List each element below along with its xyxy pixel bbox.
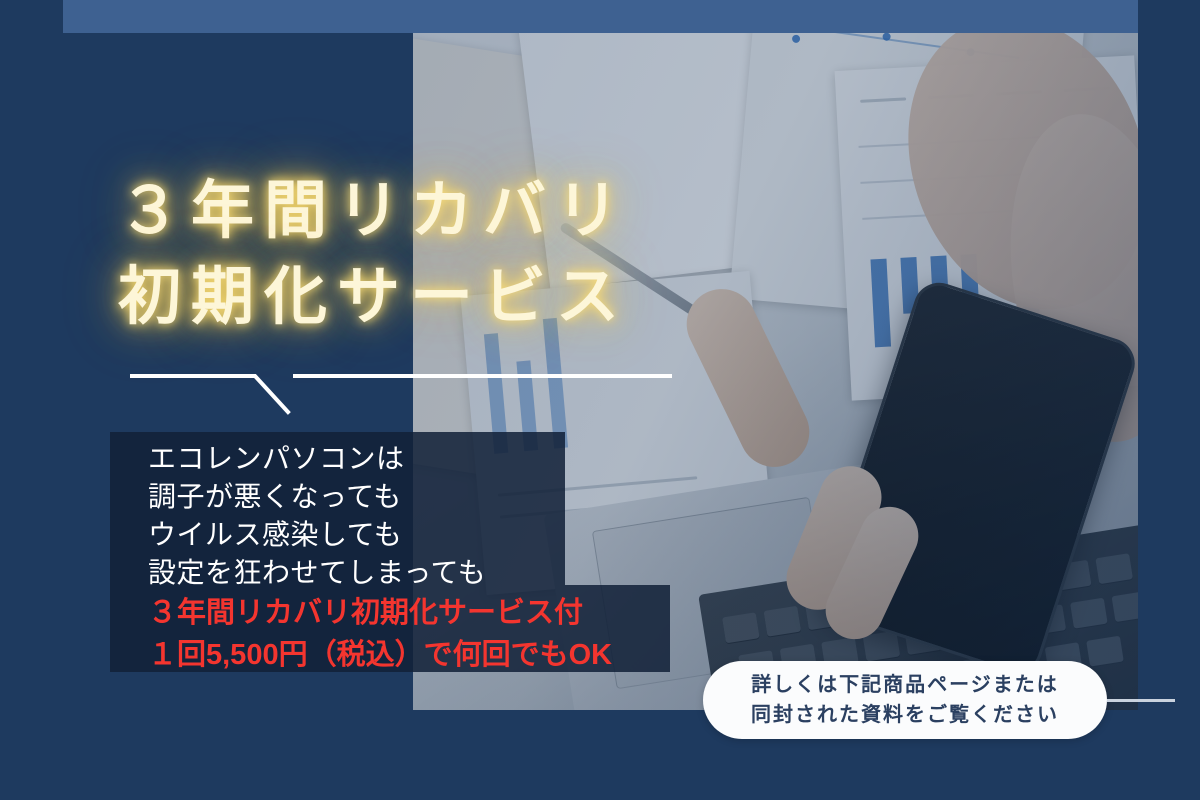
body-line: 設定を狂わせてしまっても <box>148 554 612 592</box>
body-line: ウイルス感染しても <box>148 516 612 554</box>
callout-line-1: 詳しくは下記商品ページまたは <box>751 670 1059 700</box>
body-line: エコレンパソコンは <box>148 440 612 478</box>
body-line-highlight: １回5,500円（税込）で何回でもOK <box>148 634 612 676</box>
headline-line-2: 初期化サービス <box>118 254 629 340</box>
headline: ３年間リカバリ 初期化サービス <box>118 168 629 340</box>
top-accent-band <box>63 0 1138 33</box>
body-copy: エコレンパソコンは 調子が悪くなっても ウイルス感染しても 設定を狂わせてしまっ… <box>148 440 612 676</box>
body-line-highlight: ３年間リカバリ初期化サービス付 <box>148 592 612 634</box>
callout-text: 詳しくは下記商品ページまたは 同封された資料をご覧ください <box>751 670 1059 730</box>
callout-line-2: 同封された資料をご覧ください <box>751 700 1059 730</box>
headline-line-1: ３年間リカバリ <box>118 168 629 254</box>
callout-pill: 詳しくは下記商品ページまたは 同封された資料をご覧ください <box>703 661 1107 739</box>
callout-rule <box>1107 699 1175 702</box>
promotional-banner: ３年間リカバリ 初期化サービス エコレンパソコンは 調子が悪くなっても ウイルス… <box>0 0 1200 800</box>
body-line: 調子が悪くなっても <box>148 478 612 516</box>
